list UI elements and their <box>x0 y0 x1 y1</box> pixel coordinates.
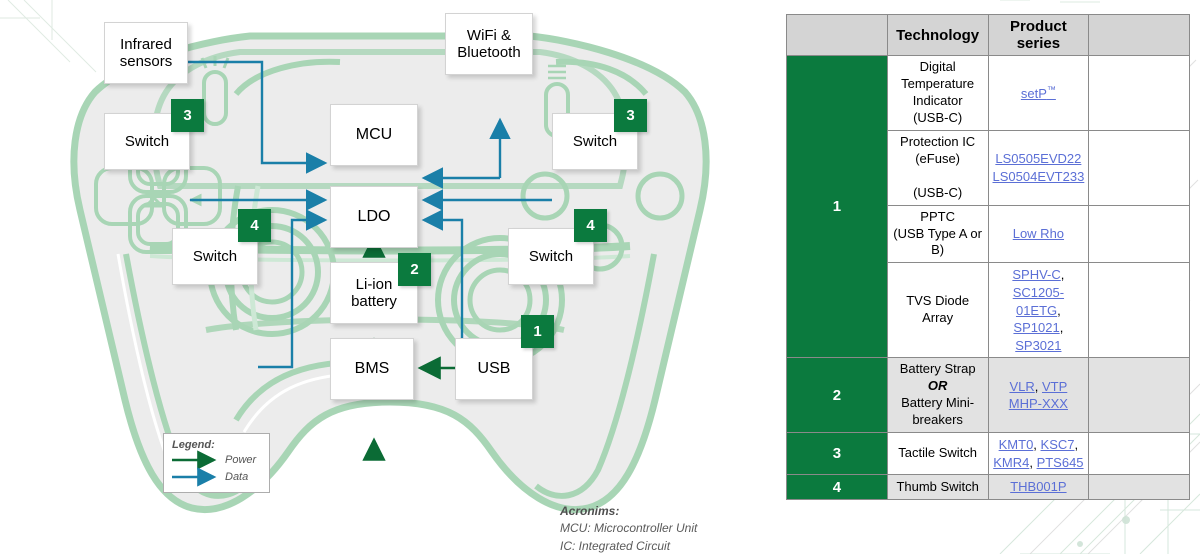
header-index <box>787 15 888 56</box>
header-product-series: Product series <box>988 15 1089 56</box>
product-link[interactable]: PTS645 <box>1037 455 1084 470</box>
technology-table: Technology Product series 1 Digital Temp… <box>786 14 1190 500</box>
product-link[interactable]: VLR <box>1009 379 1034 394</box>
header-spacer <box>1089 15 1190 56</box>
node-switch-right-bottom-label: Switch <box>529 248 573 265</box>
row-products: THB001P <box>988 475 1089 500</box>
badge-4-left-value: 4 <box>250 217 258 234</box>
block-diagram-panel: Infrared sensors WiFi & Bluetooth Switch… <box>0 0 780 554</box>
badge-2-battery-value: 2 <box>410 261 418 278</box>
product-link[interactable]: THB001P <box>1010 479 1066 494</box>
table-header-row: Technology Product series <box>787 15 1190 56</box>
technology-table-wrapper: Technology Product series 1 Digital Temp… <box>786 14 1190 500</box>
badge-3-right[interactable]: 3 <box>614 99 647 132</box>
row-technology: Thumb Switch <box>887 475 988 500</box>
row-products: KMT0, KSC7, KMR4, PTS645 <box>988 433 1089 475</box>
row-spacer <box>1089 205 1190 263</box>
acronyms-block: Acronims: MCU: Microcontroller Unit IC: … <box>560 503 697 555</box>
node-mcu[interactable]: MCU <box>330 104 418 166</box>
node-bms[interactable]: BMS <box>330 338 414 400</box>
legend-label-data: Data <box>225 471 248 483</box>
row-products: LS0505EVD22 LS0504EVT233 <box>988 130 1089 205</box>
node-bms-label: BMS <box>355 360 390 378</box>
product-link[interactable]: LS0505EVD22 <box>995 151 1081 166</box>
row-technology: Battery Strap OR Battery Mini-breakers <box>887 358 988 433</box>
product-link[interactable]: KSC7 <box>1041 437 1075 452</box>
node-switch-right-top-label: Switch <box>573 133 617 150</box>
badge-1-usb-value: 1 <box>533 323 541 340</box>
badge-4-right[interactable]: 4 <box>574 209 607 242</box>
row-products: Low Rho <box>988 205 1089 263</box>
badge-3-left-value: 3 <box>183 107 191 124</box>
row-index-3: 3 <box>787 433 888 475</box>
badge-1-usb[interactable]: 1 <box>521 315 554 348</box>
product-link[interactable]: SPHV-C <box>1012 267 1060 282</box>
product-link[interactable]: setP™ <box>1021 86 1056 101</box>
table-row: 1 Digital Temperature Indicator (USB-C) … <box>787 56 1190 131</box>
badge-2-battery[interactable]: 2 <box>398 253 431 286</box>
node-infrared-sensors-label: Infrared sensors <box>120 36 173 71</box>
node-li-ion-battery-label: Li-ion battery <box>351 276 397 311</box>
acronyms-title: Acronims: <box>560 503 697 520</box>
row-spacer <box>1089 56 1190 131</box>
row-technology: Digital Temperature Indicator (USB-C) <box>887 56 988 131</box>
legend-label-power: Power <box>225 454 256 466</box>
node-wifi-bluetooth[interactable]: WiFi & Bluetooth <box>445 13 533 75</box>
node-usb-label: USB <box>478 360 511 378</box>
row-index-4: 4 <box>787 475 888 500</box>
header-technology: Technology <box>887 15 988 56</box>
acronym-ic: IC: Integrated Circuit <box>560 538 697 555</box>
acronym-mcu: MCU: Microcontroller Unit <box>560 520 697 537</box>
row-technology: TVS Diode Array <box>887 263 988 358</box>
badge-4-left[interactable]: 4 <box>238 209 271 242</box>
row-technology: Protection IC (eFuse) (USB-C) <box>887 130 988 205</box>
product-link[interactable]: SP1021 <box>1013 320 1059 335</box>
row-technology: Tactile Switch <box>887 433 988 475</box>
row-spacer <box>1089 263 1190 358</box>
node-infrared-sensors[interactable]: Infrared sensors <box>104 22 188 84</box>
product-link[interactable]: LS0504EVT233 <box>993 169 1085 184</box>
product-link[interactable]: KMR4 <box>993 455 1029 470</box>
row-spacer <box>1089 433 1190 475</box>
row-products: setP™ <box>988 56 1089 131</box>
row-spacer <box>1089 475 1190 500</box>
badge-3-left[interactable]: 3 <box>171 99 204 132</box>
badge-3-right-value: 3 <box>626 107 634 124</box>
node-wifi-bluetooth-label: WiFi & Bluetooth <box>457 27 520 62</box>
row-spacer <box>1089 130 1190 205</box>
page-root: Infrared sensors WiFi & Bluetooth Switch… <box>0 0 1200 554</box>
product-link[interactable]: Low Rho <box>1013 226 1064 241</box>
product-link[interactable]: VTP <box>1042 379 1067 394</box>
row-products: SPHV-C, SC1205-01ETG, SP1021, SP3021 <box>988 263 1089 358</box>
node-switch-left-top-label: Switch <box>125 133 169 150</box>
row-products: VLR, VTP MHP-XXX <box>988 358 1089 433</box>
table-row: 2 Battery Strap OR Battery Mini-breakers… <box>787 358 1190 433</box>
row-spacer <box>1089 358 1190 433</box>
node-mcu-label: MCU <box>356 126 392 144</box>
table-row: 3 Tactile Switch KMT0, KSC7, KMR4, PTS64… <box>787 433 1190 475</box>
product-link[interactable]: MHP-XXX <box>1009 396 1068 411</box>
product-link[interactable]: SP3021 <box>1015 338 1061 353</box>
legend-box: Legend: Power Data <box>163 433 270 493</box>
node-switch-left-bottom-label: Switch <box>193 248 237 265</box>
row-index-1: 1 <box>787 56 888 358</box>
row-technology: PPTC (USB Type A or B) <box>887 205 988 263</box>
node-ldo[interactable]: LDO <box>330 186 418 248</box>
row-index-2: 2 <box>787 358 888 433</box>
table-row: 4 Thumb Switch THB001P <box>787 475 1190 500</box>
badge-4-right-value: 4 <box>586 217 594 234</box>
product-link[interactable]: KMT0 <box>999 437 1034 452</box>
node-ldo-label: LDO <box>358 208 391 226</box>
